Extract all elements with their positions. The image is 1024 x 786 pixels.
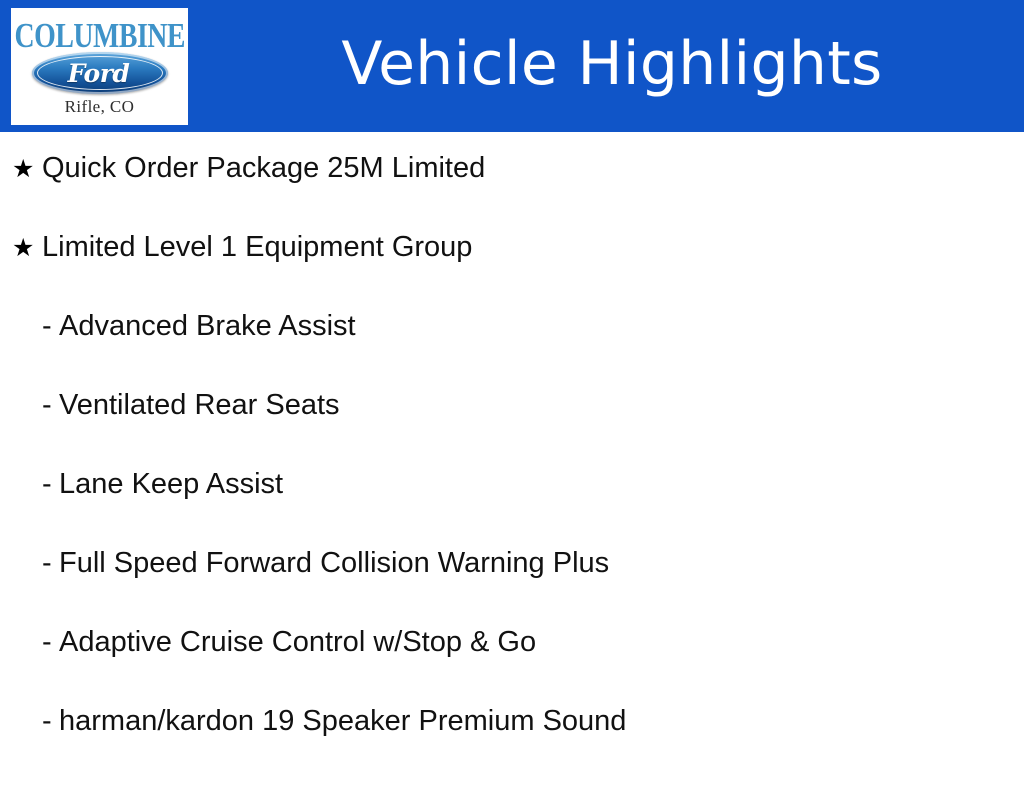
list-item: -Ventilated Rear Seats	[0, 391, 1024, 470]
dealer-logo-inner: COLUMBINE Ford Rifle, CO	[11, 8, 188, 125]
list-item: -Adaptive Cruise Control w/Stop & Go	[0, 628, 1024, 707]
list-item: ★Limited Level 1 Equipment Group	[0, 233, 1024, 312]
list-item-label: Full Speed Forward Collision Warning Plu…	[59, 549, 609, 578]
list-item-label: Adaptive Cruise Control w/Stop & Go	[59, 628, 536, 657]
dealer-name-text: COLUMBINE	[15, 19, 185, 54]
page-title: Vehicle Highlights	[200, 0, 1024, 132]
list-item: -Lane Keep Assist	[0, 470, 1024, 549]
list-item: -Advanced Brake Assist	[0, 312, 1024, 391]
list-item: -Full Speed Forward Collision Warning Pl…	[0, 549, 1024, 628]
dash-bullet-icon: -	[42, 470, 59, 499]
star-bullet-icon: ★	[12, 236, 42, 261]
list-item-label: Limited Level 1 Equipment Group	[42, 233, 472, 262]
dash-bullet-icon: -	[42, 391, 59, 420]
list-item: ★Quick Order Package 25M Limited	[0, 154, 1024, 233]
ford-wordmark: Ford	[32, 52, 168, 94]
list-item: -harman/kardon 19 Speaker Premium Sound	[0, 707, 1024, 786]
highlights-list: ★Quick Order Package 25M Limited★Limited…	[0, 132, 1024, 768]
list-item-label: Advanced Brake Assist	[59, 312, 356, 341]
ford-oval-icon: Ford	[32, 52, 168, 94]
list-item-label: Lane Keep Assist	[59, 470, 283, 499]
vehicle-highlights-slide: Vehicle Highlights COLUMBINE Ford Rifle,…	[0, 0, 1024, 768]
dash-bullet-icon: -	[42, 707, 59, 736]
dealer-city-text: Rifle, CO	[11, 97, 188, 117]
dash-bullet-icon: -	[42, 628, 59, 657]
star-bullet-icon: ★	[12, 157, 42, 182]
dash-bullet-icon: -	[42, 312, 59, 341]
dealer-logo: COLUMBINE Ford Rifle, CO	[11, 8, 188, 125]
list-item-label: Ventilated Rear Seats	[59, 391, 340, 420]
list-item-label: Quick Order Package 25M Limited	[42, 154, 485, 183]
list-item-label: harman/kardon 19 Speaker Premium Sound	[59, 707, 626, 736]
dash-bullet-icon: -	[42, 549, 59, 578]
